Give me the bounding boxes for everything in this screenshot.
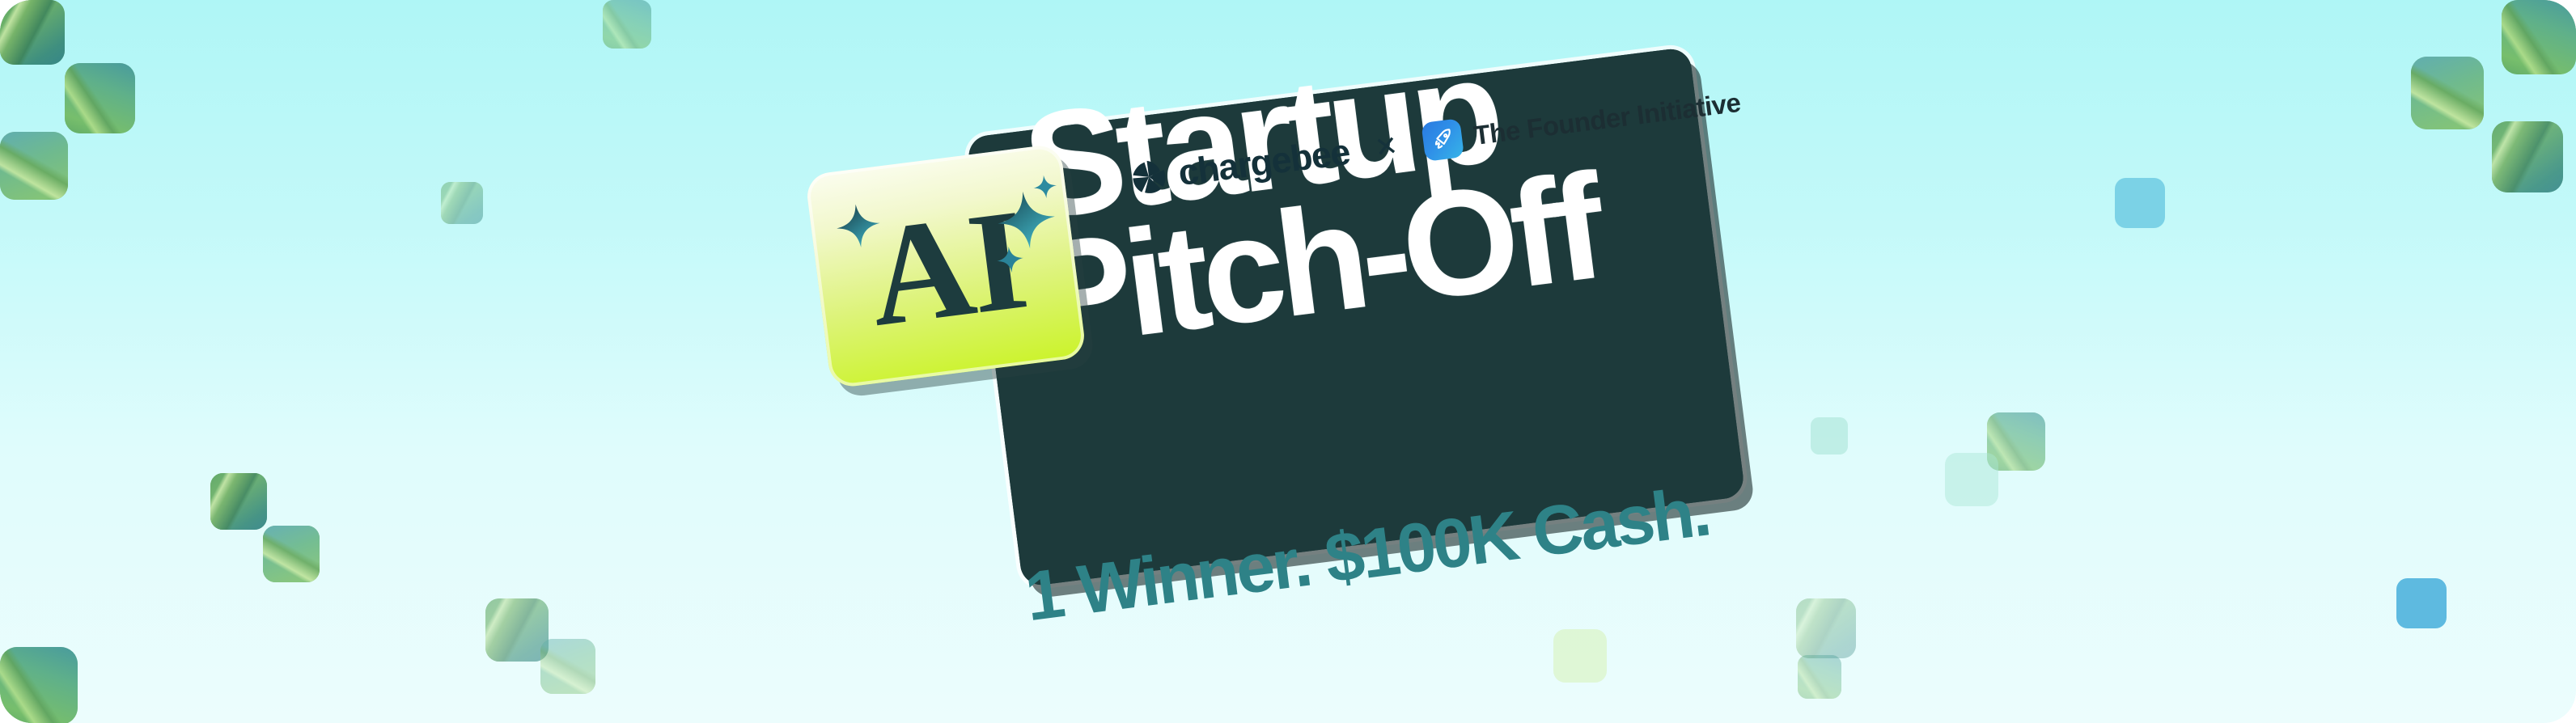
tilted-stage: Startup Pitch-Off 1 Winner. $100K Cash. … <box>0 0 2576 723</box>
ai-badge: AI <box>805 143 1087 389</box>
sparkle-icon <box>995 244 1026 275</box>
chargebee-pinwheel-logo-icon <box>1128 156 1169 197</box>
sparkle-icon <box>1032 173 1059 201</box>
sparkle-icon <box>833 201 884 252</box>
rocket-icon <box>1421 118 1464 162</box>
collab-separator-icon: ✕ <box>1373 129 1400 164</box>
promo-banner: Startup Pitch-Off 1 Winner. $100K Cash. … <box>0 0 2576 723</box>
